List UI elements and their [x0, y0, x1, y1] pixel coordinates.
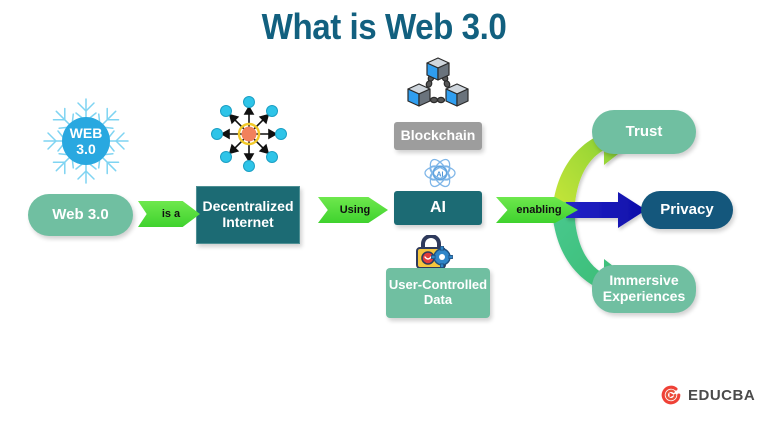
- node-web30-label: Web 3.0: [52, 207, 108, 224]
- educba-wordmark: EDUCBA: [688, 387, 755, 404]
- connector-arrow-enabling-label: enabling: [516, 204, 561, 216]
- line-1: User-Controlled: [389, 277, 487, 292]
- straight-right-arrow-icon: [566, 192, 646, 228]
- node-privacy[interactable]: Privacy: [641, 191, 733, 229]
- connector-arrow-enabling: enabling: [496, 197, 578, 223]
- node-ai-label: AI: [430, 199, 446, 217]
- node-ai[interactable]: AI: [394, 191, 482, 225]
- padlock-gear-icon: [412, 235, 456, 269]
- line-2: Data: [424, 292, 452, 307]
- ai-atom-icon: AI: [418, 155, 462, 191]
- node-web30[interactable]: Web 3.0: [28, 194, 133, 236]
- infographic-canvas: What is Web 3.0: [0, 0, 768, 427]
- svg-text:WEB: WEB: [70, 125, 103, 141]
- svg-text:3.0: 3.0: [76, 141, 96, 157]
- node-trust[interactable]: Trust: [592, 110, 696, 154]
- line-1: Immersive: [609, 272, 678, 288]
- line-2: Experiences: [603, 288, 686, 304]
- connector-arrow-using-label: Using: [340, 204, 371, 216]
- node-privacy-label: Privacy: [660, 202, 713, 219]
- node-user-controlled-data-label: User-Controlled Data: [389, 278, 487, 307]
- node-trust-label: Trust: [626, 124, 663, 141]
- web30-snowflake-icon: WEB 3.0: [40, 95, 132, 187]
- line-1: Decentralized: [202, 198, 293, 214]
- educba-swirl-play-icon: [660, 384, 682, 406]
- node-decentralized-internet[interactable]: Decentralized Internet: [196, 186, 300, 244]
- network-nodes-icon: [210, 95, 288, 173]
- connector-arrow-is-a: is a: [138, 201, 200, 227]
- connector-arrow-is-a-label: is a: [162, 208, 180, 220]
- node-immersive-experiences-label: Immersive Experiences: [603, 273, 686, 304]
- line-2: Internet: [222, 214, 273, 230]
- connector-arrow-using: Using: [318, 197, 388, 223]
- educba-logo[interactable]: EDUCBA: [660, 384, 755, 406]
- blockchain-cubes-icon: [405, 56, 471, 114]
- node-decentralized-internet-label: Decentralized Internet: [202, 199, 293, 230]
- node-blockchain-label: Blockchain: [401, 128, 476, 144]
- node-blockchain[interactable]: Blockchain: [394, 122, 482, 150]
- node-immersive-experiences[interactable]: Immersive Experiences: [592, 265, 696, 313]
- svg-text:AI: AI: [437, 172, 444, 179]
- node-user-controlled-data[interactable]: User-Controlled Data: [386, 268, 490, 318]
- page-title: What is Web 3.0: [31, 6, 738, 48]
